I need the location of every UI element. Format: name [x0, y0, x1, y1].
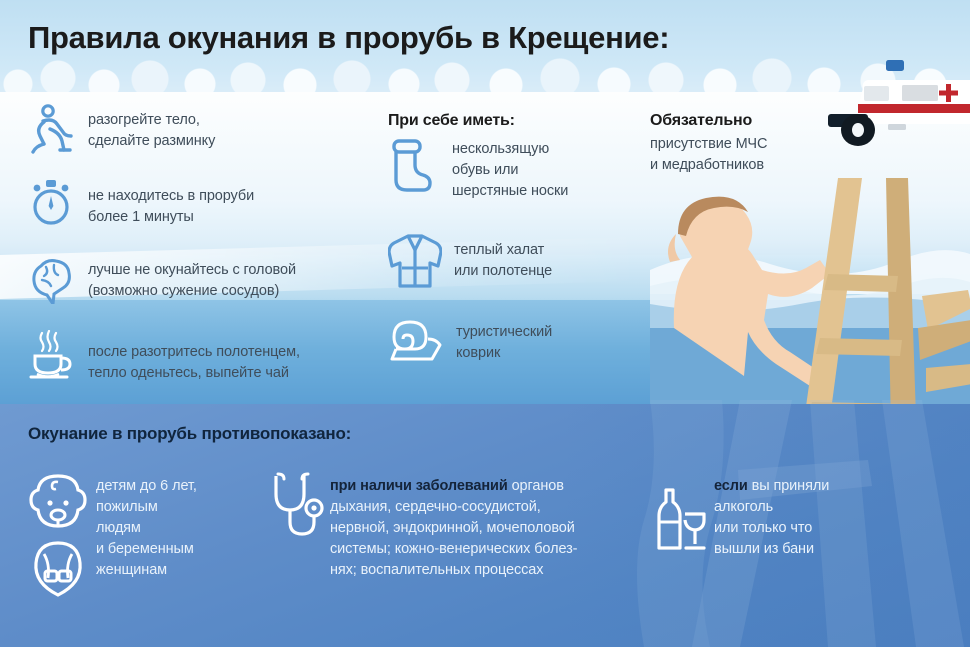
contraindication-illness-text: при наличи заболеваний органов дыхания, …	[330, 476, 620, 581]
rule-warm-up: разогрейте тело, сделайте разминку	[28, 104, 358, 154]
boot-icon	[388, 137, 438, 199]
rule-dry-and-tea: после разотритесь полотенцем, тепло оден…	[28, 330, 368, 384]
rule-warm-up-text: разогрейте тело, сделайте разминку	[88, 110, 215, 152]
item-bathrobe-text: теплый халат или полотенце	[454, 240, 552, 282]
illness-lead: при наличи заболеваний	[330, 478, 508, 494]
bottle-glass-icon	[652, 488, 708, 552]
item-footwear-text: нескользящую обувь или шерстяные носки	[452, 139, 568, 202]
camping-mat-icon	[388, 318, 444, 364]
rule-dry-and-tea-text: после разотритесь полотенцем, тепло оден…	[88, 342, 300, 384]
page-title: Правила окунания в прорубь в Крещение:	[28, 20, 669, 56]
exercise-icon	[28, 104, 74, 154]
tea-cup-icon	[28, 330, 74, 382]
rule-time-limit-text: не находитесь в проруби более 1 минуты	[88, 186, 254, 228]
item-footwear: нескользящую обувь или шерстяные носки	[388, 137, 618, 202]
contraindication-groups-text: детям до 6 лет, пожилым людям и беременн…	[96, 476, 296, 581]
pregnant-woman-icon	[28, 540, 88, 598]
infographic-poster: Правила окунания в прорубь в Крещение: р…	[0, 0, 970, 647]
mandatory-text: присутствие МЧС и медработников	[650, 134, 840, 176]
baby-face-icon	[28, 472, 88, 534]
item-camping-mat: туристический коврик	[388, 318, 618, 364]
alcohol-lead: если	[714, 478, 748, 494]
stopwatch-icon	[28, 178, 74, 228]
rule-time-limit: не находитесь в проруби более 1 минуты	[28, 178, 358, 228]
bathrobe-icon	[388, 232, 442, 292]
stethoscope-icon	[268, 472, 324, 546]
contraindication-alcohol-text: если вы приняли алкоголь или только что …	[714, 476, 934, 560]
rule-no-head-dip: лучше не окунайтесь с головой (возможно …	[28, 256, 368, 304]
contraindications-heading: Окунание в прорубь противопоказано:	[28, 424, 351, 444]
item-camping-mat-text: туристический коврик	[456, 322, 552, 364]
mandatory-heading: Обязательно	[650, 112, 752, 130]
carry-heading: При себе иметь:	[388, 112, 515, 130]
ambulance-icon	[828, 52, 970, 164]
brain-icon	[28, 256, 74, 304]
rule-no-head-dip-text: лучше не окунайтесь с головой (возможно …	[88, 260, 296, 302]
item-bathrobe: теплый халат или полотенце	[388, 232, 618, 292]
